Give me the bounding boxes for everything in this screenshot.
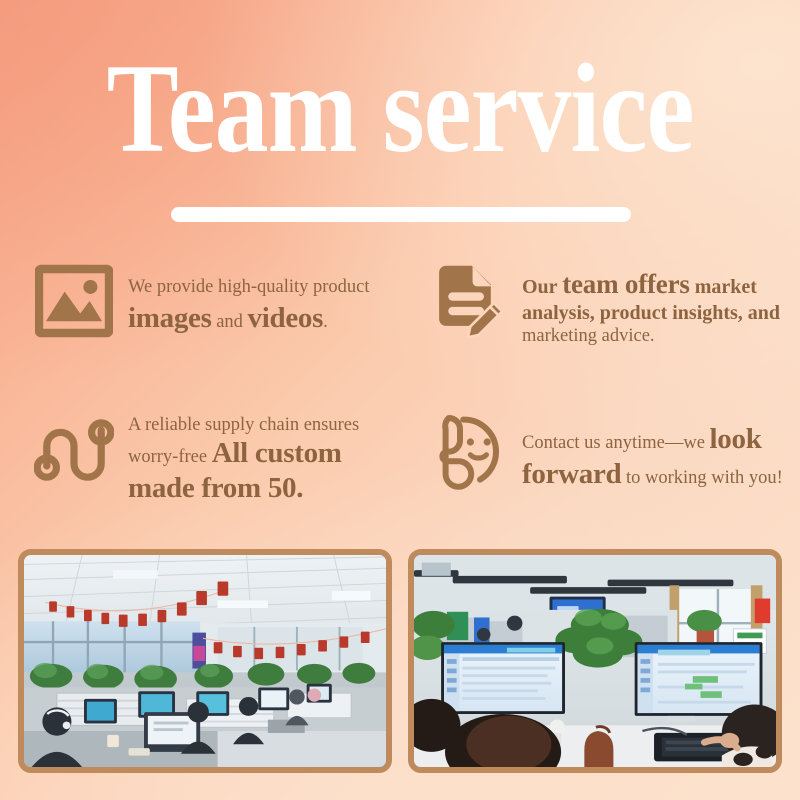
page-title: Team service bbox=[0, 46, 800, 173]
supply-chain-icon bbox=[28, 406, 120, 498]
title-block: Team service bbox=[0, 46, 800, 154]
feature-line: Contact us anytime—we look bbox=[522, 422, 790, 457]
feature-line: marketing advice. bbox=[522, 325, 790, 348]
feature-line: forward to working with you! bbox=[522, 457, 790, 492]
office-wide-shot bbox=[18, 549, 392, 773]
feature-item-images: We provide high-quality product images a… bbox=[0, 258, 400, 406]
document-pencil-icon bbox=[422, 258, 514, 350]
feature-grid: We provide high-quality product images a… bbox=[0, 258, 800, 530]
feature-item-contact: Contact us anytime—we look forward to wo… bbox=[400, 406, 800, 530]
feature-line: made from 50. bbox=[128, 471, 390, 506]
feature-line: analysis, product insights, and bbox=[522, 301, 790, 325]
office-wide-shot-image bbox=[24, 555, 386, 767]
feature-line: A reliable supply chain ensures bbox=[128, 414, 390, 436]
feature-text-images: We provide high-quality product images a… bbox=[120, 258, 390, 337]
feature-text-supply-chain: A reliable supply chain ensures worry-fr… bbox=[120, 406, 390, 506]
feature-item-supply-chain: A reliable supply chain ensures worry-fr… bbox=[0, 406, 400, 530]
feature-item-market-analysis: Our team offers market analysis, product… bbox=[400, 258, 800, 406]
office-desk-closeup bbox=[408, 549, 782, 773]
feature-text-contact: Contact us anytime—we look forward to wo… bbox=[514, 406, 790, 493]
office-desk-closeup-image bbox=[414, 555, 776, 767]
feature-line: We provide high-quality product bbox=[128, 276, 390, 300]
feature-line: worry-free All custom bbox=[128, 436, 390, 471]
feature-line: images and videos. bbox=[128, 300, 390, 337]
feature-text-market-analysis: Our team offers market analysis, product… bbox=[514, 258, 790, 348]
feature-line: Our team offers market bbox=[522, 268, 790, 301]
phone-smile-icon bbox=[422, 406, 514, 498]
title-divider-bar bbox=[171, 207, 631, 222]
photo-row bbox=[0, 549, 800, 773]
image-icon bbox=[28, 258, 120, 350]
